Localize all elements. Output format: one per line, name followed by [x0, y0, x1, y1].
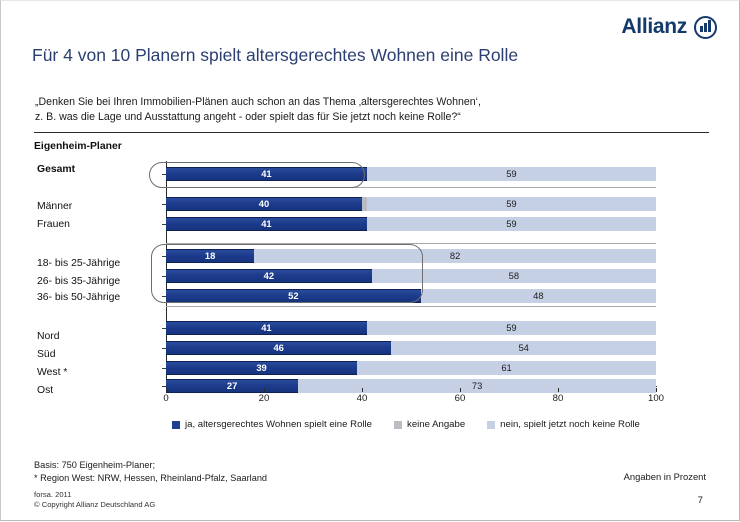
- legend-swatch-icon: [487, 421, 495, 429]
- unit-note: Angaben in Prozent: [624, 471, 706, 482]
- category-label: Ost: [37, 385, 161, 396]
- table-row: 4258: [166, 269, 656, 283]
- basis-line-2: * Region West: NRW, Hessen, Rheinland-Pf…: [34, 472, 267, 485]
- basis-note: Basis: 750 Eigenheim-Planer; * Region We…: [34, 459, 267, 485]
- block-separator: [166, 306, 656, 307]
- bar-value-ja: 39: [166, 361, 357, 375]
- legend-label: ja, altersgerechtes Wohnen spielt eine R…: [185, 419, 372, 430]
- x-tick-label: 60: [455, 393, 466, 404]
- y-tick: [162, 224, 166, 225]
- x-tick-label: 0: [163, 393, 168, 404]
- copyright-line: © Copyright Allianz Deutschland AG: [34, 500, 155, 510]
- legend-item[interactable]: keine Angabe: [394, 419, 465, 430]
- legend-item[interactable]: nein, spielt jetzt noch keine Rolle: [487, 419, 640, 430]
- table-row: 4159: [166, 321, 656, 335]
- x-tick-label: 40: [357, 393, 368, 404]
- table-row: 1882: [166, 249, 656, 263]
- y-tick: [162, 276, 166, 277]
- x-tick-label: 20: [259, 393, 270, 404]
- category-label: Süd: [37, 349, 161, 360]
- table-row: 3961: [166, 361, 656, 375]
- y-tick: [162, 348, 166, 349]
- legend-item[interactable]: ja, altersgerechtes Wohnen spielt eine R…: [172, 419, 372, 430]
- category-label: West *: [37, 367, 161, 378]
- source-copyright: forsa. 2011 © Copyright Allianz Deutschl…: [34, 490, 155, 510]
- y-tick: [162, 386, 166, 387]
- y-tick: [162, 328, 166, 329]
- legend-label: nein, spielt jetzt noch keine Rolle: [500, 419, 640, 430]
- x-tick-label: 80: [553, 393, 564, 404]
- bar-value-ja: 41: [166, 167, 367, 181]
- category-label: 18- bis 25-Jährige: [37, 258, 161, 269]
- bar-value-nein: 59: [367, 217, 656, 231]
- chart-legend: ja, altersgerechtes Wohnen spielt eine R…: [172, 419, 662, 430]
- slide: Allianz Für 4 von 10 Planern spielt alte…: [0, 0, 740, 521]
- bar-value-ja: 52: [166, 289, 421, 303]
- bar-value-nein: 54: [391, 341, 656, 355]
- y-tick: [162, 296, 166, 297]
- bar-value-ja: 18: [166, 249, 254, 263]
- legend-swatch-icon: [394, 421, 402, 429]
- bar-value-ja: 27: [166, 379, 298, 393]
- source-line: forsa. 2011: [34, 490, 155, 500]
- y-tick: [162, 256, 166, 257]
- x-tick: [656, 388, 657, 392]
- stacked-bar-chart: 4159405941591882425852484159465439612773…: [1, 1, 740, 522]
- legend-label: keine Angabe: [407, 419, 465, 430]
- x-tick: [362, 388, 363, 392]
- y-tick: [162, 368, 166, 369]
- y-tick: [162, 204, 166, 205]
- basis-line-1: Basis: 750 Eigenheim-Planer;: [34, 459, 267, 472]
- table-row: 4159: [166, 217, 656, 231]
- bar-value-ja: 41: [166, 217, 367, 231]
- table-row: 4059: [166, 197, 656, 211]
- bar-value-nein: 73: [298, 379, 656, 393]
- x-tick-label: 100: [648, 393, 664, 404]
- bar-value-ja: 41: [166, 321, 367, 335]
- bar-value-nein: 61: [357, 361, 656, 375]
- category-label: Gesamt: [37, 164, 161, 175]
- page-number: 7: [698, 495, 703, 506]
- x-tick: [166, 388, 167, 392]
- bar-value-ja: 42: [166, 269, 372, 283]
- x-tick: [264, 388, 265, 392]
- category-label: Männer: [37, 201, 161, 212]
- category-label: 36- bis 50-Jährige: [37, 292, 161, 303]
- x-tick: [558, 388, 559, 392]
- category-label: Frauen: [37, 219, 161, 230]
- bar-value-ja: 40: [166, 197, 362, 211]
- x-tick: [460, 388, 461, 392]
- block-separator: [166, 187, 656, 188]
- bar-value-nein: 59: [367, 197, 656, 211]
- bar-value-nein: 58: [372, 269, 656, 283]
- table-row: 4654: [166, 341, 656, 355]
- block-separator: [166, 243, 656, 244]
- bar-value-nein: 48: [421, 289, 656, 303]
- category-label: Nord: [37, 331, 161, 342]
- table-row: 5248: [166, 289, 656, 303]
- table-row: 2773: [166, 379, 656, 393]
- y-tick: [162, 174, 166, 175]
- bar-value-nein: 59: [367, 321, 656, 335]
- bar-value-nein: 59: [367, 167, 656, 181]
- bar-value-nein: 82: [254, 249, 656, 263]
- category-label: 26- bis 35-Jährige: [37, 276, 161, 287]
- table-row: 4159: [166, 167, 656, 181]
- legend-swatch-icon: [172, 421, 180, 429]
- bar-value-ja: 46: [166, 341, 391, 355]
